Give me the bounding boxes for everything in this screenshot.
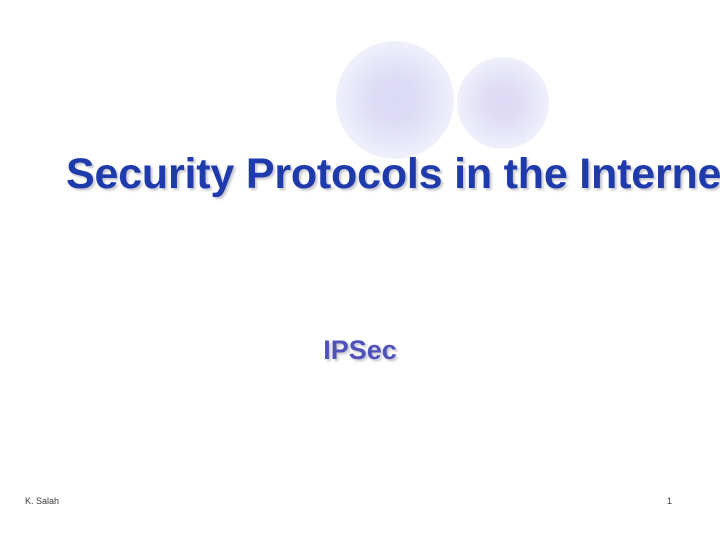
decorative-circle-small: [457, 57, 549, 149]
footer-page-number: 1: [640, 495, 672, 507]
slide-title: Security Protocols in the Internet: [66, 150, 666, 198]
footer-author: K. Salah: [25, 495, 59, 507]
presentation-slide: Security Protocols in the Internet IPSec…: [0, 0, 720, 540]
slide-subtitle: IPSec: [0, 334, 720, 366]
decorative-circle-large: [336, 41, 454, 159]
